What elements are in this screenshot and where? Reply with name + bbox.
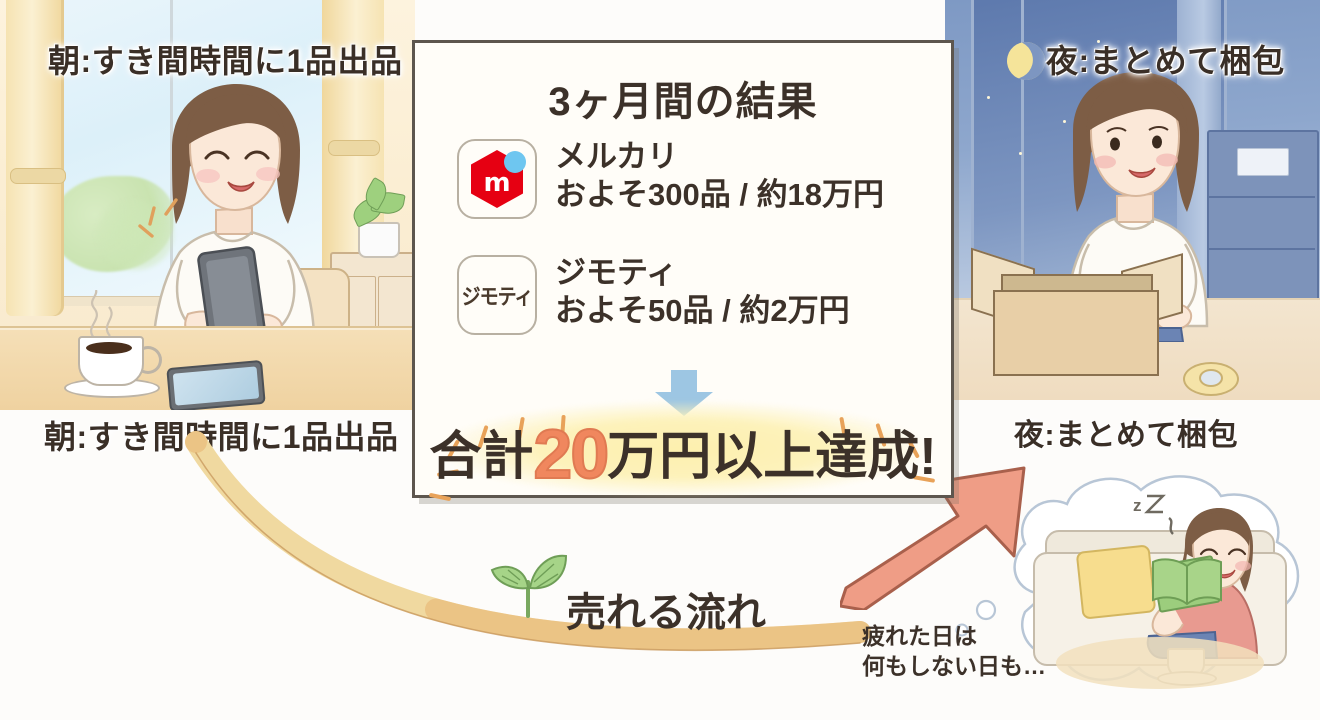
relax-squiggle-icon	[1141, 492, 1191, 538]
card-title-wrap: 3ヶ月間の結果	[415, 65, 951, 131]
rest-note-line1: 疲れた日は	[862, 622, 1046, 652]
mercari-logo-letter: m	[483, 170, 510, 196]
down-arrow-shaft	[671, 370, 697, 394]
mercari-service-name: メルカリ	[555, 140, 884, 175]
result-row-jimoty: ジモティ ジモティ およそ50品 / 約2万円	[457, 255, 850, 335]
total-number: 20	[533, 415, 607, 493]
mercari-text-block: メルカリ およそ300品 / 約18万円	[555, 139, 884, 213]
star-icon	[1019, 152, 1022, 155]
total-suffix: 万円以上達成!	[607, 428, 936, 486]
mercari-detail-prefix: およそ300品 /	[555, 177, 757, 212]
result-row-mercari: m メルカリ およそ300品 / 約18万円	[457, 139, 884, 219]
mercari-detail: およそ300品 / 約18万円	[555, 177, 884, 214]
card-title: 3ヶ月間の結果	[522, 65, 843, 131]
caption-night-top: 夜:まとめて梱包	[1046, 36, 1285, 82]
results-card: 3ヶ月間の結果 m メルカリ およそ300品 / 約18万円 ジモティ	[412, 40, 954, 498]
mercari-amount-highlight: 約18万円	[757, 177, 884, 214]
caption-morning-top: 朝:すき間時間に1品出品	[48, 36, 402, 82]
jimoty-logo-text: ジモティ	[462, 279, 533, 310]
jimoty-logo-icon: ジモティ	[457, 255, 537, 335]
mercari-blue-dot-icon	[504, 151, 526, 173]
jimoty-detail-prefix: およそ50品 /	[555, 293, 739, 328]
jimoty-text-block: ジモティ およそ50品 / 約2万円	[555, 255, 850, 329]
cardboard-box	[993, 290, 1159, 376]
total-text: 合計20万円以上達成!	[429, 419, 936, 489]
tape-roll-hole	[1199, 369, 1223, 387]
jimoty-service-name: ジモティ	[555, 256, 850, 291]
sparkle-marks	[136, 192, 186, 252]
flow-label: 売れる流れ	[566, 580, 766, 638]
jimoty-detail: およそ50品 / 約2万円	[555, 293, 850, 330]
steam-icon	[82, 290, 122, 340]
curtain-tieback-left	[10, 168, 66, 184]
book-pages	[1149, 552, 1225, 610]
rest-note-line2: 何もしない日も…	[862, 652, 1046, 682]
total-wrap: 合計20万円以上達成!	[415, 419, 951, 489]
total-prefix: 合計	[429, 428, 533, 486]
rest-note: 疲れた日は 何もしない日も…	[862, 622, 1046, 682]
jimoty-amount-highlight: 約2万円	[739, 293, 849, 330]
star-icon	[987, 96, 990, 99]
plant-pot	[358, 222, 400, 258]
sprout-icon	[488, 548, 568, 618]
coffee-liquid	[86, 342, 132, 354]
mercari-logo-icon: m	[457, 139, 537, 219]
rug	[1055, 636, 1265, 690]
illustration-canvas: 朝:すき間時間に1品出品 朝:すき間時間に1品出品	[0, 0, 1320, 720]
